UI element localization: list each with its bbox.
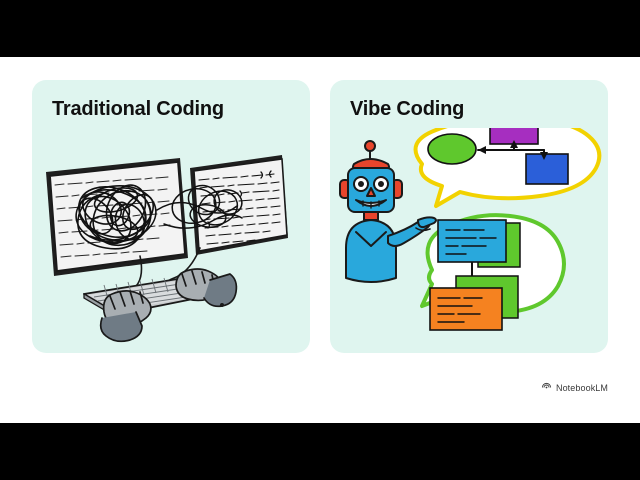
slide-content-area: Traditional Coding bbox=[0, 57, 640, 423]
code-window-orange bbox=[430, 288, 502, 330]
panel-vibe-coding: Vibe Coding bbox=[330, 80, 608, 353]
code-windows-bubble bbox=[422, 215, 564, 330]
flow-node-ellipse bbox=[428, 134, 476, 164]
letterbox-bar-top bbox=[0, 0, 640, 57]
flowchart-bubble bbox=[416, 128, 600, 206]
notebooklm-logo-text: NotebookLM bbox=[556, 383, 608, 393]
hand-left bbox=[101, 291, 151, 341]
notebooklm-branding: NotebookLM bbox=[541, 382, 608, 393]
letterbox-bar-bottom bbox=[0, 423, 640, 480]
panel-traditional-coding: Traditional Coding bbox=[32, 80, 310, 353]
panel-title-vibe: Vibe Coding bbox=[350, 98, 464, 121]
flow-node-blue bbox=[526, 154, 568, 184]
illustration-traditional-coding bbox=[32, 128, 310, 353]
screenshot-stage: Traditional Coding bbox=[0, 0, 640, 480]
panel-title-traditional: Traditional Coding bbox=[52, 98, 224, 121]
illustration-vibe-coding bbox=[330, 128, 608, 353]
code-window-blue bbox=[438, 220, 506, 262]
notebooklm-spark-icon bbox=[541, 382, 552, 393]
